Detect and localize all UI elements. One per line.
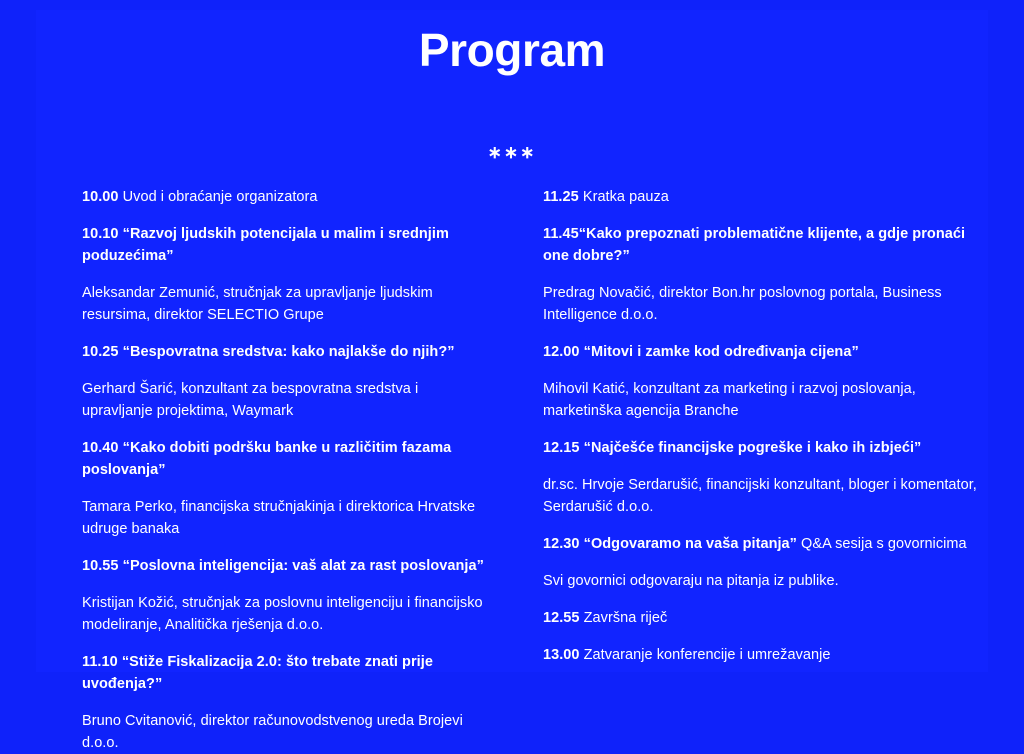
schedule-title: “Razvoj ljudskih potencijala u malim i s… <box>82 226 449 264</box>
schedule-entry: 12.55 Završna riječ <box>543 607 986 629</box>
schedule-title: “Bespovratna sredstva: kako najlakše do … <box>123 344 455 360</box>
schedule-time: 10.25 <box>82 344 119 360</box>
schedule-column-left: 10.00 Uvod i obraćanje organizatora10.10… <box>0 186 512 754</box>
schedule-title: “Najčešće financijske pogreške i kako ih… <box>584 440 922 456</box>
schedule-entry: 11.45“Kako prepoznati problematične klij… <box>543 223 986 267</box>
schedule-entry: 11.10 “Stiže Fiskalizacija 2.0: što treb… <box>82 651 492 695</box>
schedule-time: 10.10 <box>82 226 119 242</box>
schedule-description: Kratka pauza <box>583 189 669 205</box>
schedule-time: 10.40 <box>82 440 119 456</box>
schedule-speaker: Mihovil Katić, konzultant za marketing i… <box>543 378 986 422</box>
schedule-speaker: Kristijan Kožić, stručnjak za poslovnu i… <box>82 592 492 636</box>
schedule-title: “Kako dobiti podršku banke u različitim … <box>82 440 451 478</box>
schedule-entry: 11.25 Kratka pauza <box>543 186 986 208</box>
schedule-time: 11.25 <box>543 189 579 205</box>
schedule-entry: 10.55 “Poslovna inteligencija: vaš alat … <box>82 555 492 577</box>
schedule-time: 13.00 <box>543 647 580 663</box>
schedule-description: Zatvaranje konferencije i umrežavanje <box>584 647 831 663</box>
schedule-time: 12.30 <box>543 536 580 552</box>
schedule-speaker: Bruno Cvitanović, direktor računovodstve… <box>82 710 492 754</box>
page-title: Program <box>0 22 1024 78</box>
schedule-time: 11.10 <box>82 654 118 670</box>
schedule-time: 12.55 <box>543 610 580 626</box>
schedule-title: “Mitovi i zamke kod određivanja cijena” <box>584 344 859 360</box>
schedule-speaker: Svi govornici odgovaraju na pitanja iz p… <box>543 570 986 592</box>
schedule-description: Završna riječ <box>584 610 668 626</box>
schedule-time: 11.45 <box>543 226 579 242</box>
asterisk-divider: ∗∗∗ <box>0 143 1024 163</box>
schedule-title: “Kako prepoznati problematične klijente,… <box>543 226 965 264</box>
schedule-speaker: dr.sc. Hrvoje Serdarušić, financijski ko… <box>543 474 986 518</box>
schedule-description: Q&A sesija s govornicima <box>797 536 967 552</box>
schedule-title: “Stiže Fiskalizacija 2.0: što trebate zn… <box>82 654 433 692</box>
schedule-columns: 10.00 Uvod i obraćanje organizatora10.10… <box>0 186 1024 754</box>
schedule-entry: 10.40 “Kako dobiti podršku banke u razli… <box>82 437 492 481</box>
schedule-column-right: 11.25 Kratka pauza11.45“Kako prepoznati … <box>512 186 1024 666</box>
schedule-speaker: Predrag Novačić, direktor Bon.hr poslovn… <box>543 282 986 326</box>
schedule-title: “Odgovaramo na vaša pitanja” <box>584 536 797 552</box>
schedule-speaker: Aleksandar Zemunić, stručnjak za upravlj… <box>82 282 492 326</box>
schedule-entry: 12.00 “Mitovi i zamke kod određivanja ci… <box>543 341 986 363</box>
schedule-entry: 12.30 “Odgovaramo na vaša pitanja” Q&A s… <box>543 533 986 555</box>
schedule-time: 12.15 <box>543 440 580 456</box>
program-page: Program ∗∗∗ 10.00 Uvod i obraćanje organ… <box>0 0 1024 683</box>
schedule-entry: 10.00 Uvod i obraćanje organizatora <box>82 186 492 208</box>
schedule-speaker: Gerhard Šarić, konzultant za bespovratna… <box>82 378 492 422</box>
schedule-entry: 12.15 “Najčešće financijske pogreške i k… <box>543 437 986 459</box>
schedule-title: “Poslovna inteligencija: vaš alat za ras… <box>123 558 484 574</box>
schedule-entry: 10.25 “Bespovratna sredstva: kako najlak… <box>82 341 492 363</box>
schedule-time: 12.00 <box>543 344 580 360</box>
schedule-speaker: Tamara Perko, financijska stručnjakinja … <box>82 496 492 540</box>
schedule-entry: 10.10 “Razvoj ljudskih potencijala u mal… <box>82 223 492 267</box>
schedule-time: 10.00 <box>82 189 119 205</box>
schedule-description: Uvod i obraćanje organizatora <box>123 189 318 205</box>
schedule-time: 10.55 <box>82 558 119 574</box>
schedule-entry: 13.00 Zatvaranje konferencije i umrežava… <box>543 644 986 666</box>
